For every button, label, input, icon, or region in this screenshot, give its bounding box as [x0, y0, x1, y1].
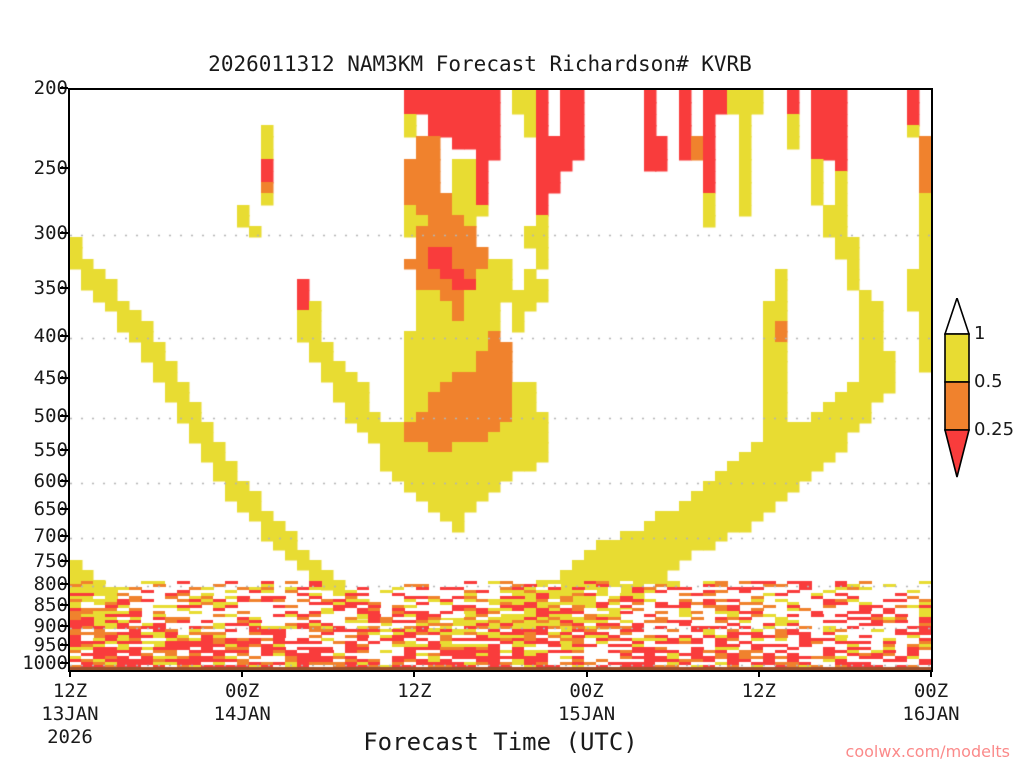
y-tick-mark-450: [60, 377, 68, 379]
y-tick-mark-700: [60, 535, 68, 537]
x-tick-time-2: 12Z: [397, 680, 431, 702]
y-tick-mark-200: [60, 87, 68, 89]
y-tick-label-400: 400: [6, 325, 68, 347]
colorbar-label-0_5: 0.5: [974, 371, 1003, 392]
y-axis: 2002503003504004505005506006507007508008…: [0, 0, 68, 768]
x-axis-label: Forecast Time (UTC): [68, 728, 933, 756]
y-tick-mark-800: [60, 583, 68, 585]
y-tick-mark-850: [60, 604, 68, 606]
x-tick-time-0: 12Z: [53, 680, 87, 702]
x-tick-mark-5: [930, 670, 932, 677]
y-tick-label-650: 650: [6, 498, 68, 520]
colorbar-band-orange: [945, 382, 969, 430]
y-tick-label-800: 800: [6, 573, 68, 595]
y-tick-label-500: 500: [6, 405, 68, 427]
chart-root: 2026011312 NAM3KM Forecast Richardson# K…: [0, 0, 1024, 768]
plot-area: [68, 88, 933, 672]
y-tick-mark-300: [60, 232, 68, 234]
y-tick-label-750: 750: [6, 550, 68, 572]
x-tick-mark-4: [758, 670, 760, 677]
y-tick-label-350: 350: [6, 277, 68, 299]
chart-title: 2026011312 NAM3KM Forecast Richardson# K…: [0, 52, 960, 76]
x-tick-day-1: 14JAN: [214, 703, 271, 725]
y-tick-mark-650: [60, 508, 68, 510]
x-tick-mark-3: [586, 670, 588, 677]
y-tick-label-250: 250: [6, 157, 68, 179]
colorbar: [944, 298, 970, 478]
watermark: coolwx.com/modelts: [846, 742, 1010, 761]
y-tick-mark-500: [60, 415, 68, 417]
y-tick-mark-550: [60, 449, 68, 451]
y-tick-label-200: 200: [6, 77, 68, 99]
x-tick-mark-1: [241, 670, 243, 677]
x-tick-time-3: 00Z: [569, 680, 603, 702]
y-tick-label-550: 550: [6, 439, 68, 461]
colorbar-band-yellow: [945, 334, 969, 382]
y-tick-label-600: 600: [6, 470, 68, 492]
y-tick-mark-900: [60, 625, 68, 627]
richardson-heatmap: [70, 90, 931, 670]
y-tick-mark-250: [60, 167, 68, 169]
y-tick-label-700: 700: [6, 525, 68, 547]
x-tick-mark-0: [69, 670, 71, 677]
x-tick-mark-2: [413, 670, 415, 677]
x-tick-day-0: 13JAN: [41, 703, 98, 725]
y-tick-mark-400: [60, 335, 68, 337]
x-tick-day-3: 15JAN: [558, 703, 615, 725]
y-tick-mark-600: [60, 480, 68, 482]
x-tick-time-1: 00Z: [225, 680, 259, 702]
colorbar-extend-top: [945, 298, 969, 334]
y-tick-mark-350: [60, 287, 68, 289]
y-tick-label-300: 300: [6, 222, 68, 244]
y-tick-mark-750: [60, 560, 68, 562]
colorbar-extend-bottom: [945, 430, 969, 477]
colorbar-label-0_25: 0.25: [974, 419, 1014, 440]
x-tick-time-4: 12Z: [742, 680, 776, 702]
y-tick-label-850: 850: [6, 594, 68, 616]
y-tick-mark-950: [60, 644, 68, 646]
y-tick-label-450: 450: [6, 367, 68, 389]
x-tick-time-5: 00Z: [914, 680, 948, 702]
x-tick-day-5: 16JAN: [902, 703, 959, 725]
y-tick-mark-1000: [60, 662, 68, 664]
y-tick-label-1000: 1000: [6, 652, 68, 674]
colorbar-label-1: 1: [974, 323, 985, 344]
